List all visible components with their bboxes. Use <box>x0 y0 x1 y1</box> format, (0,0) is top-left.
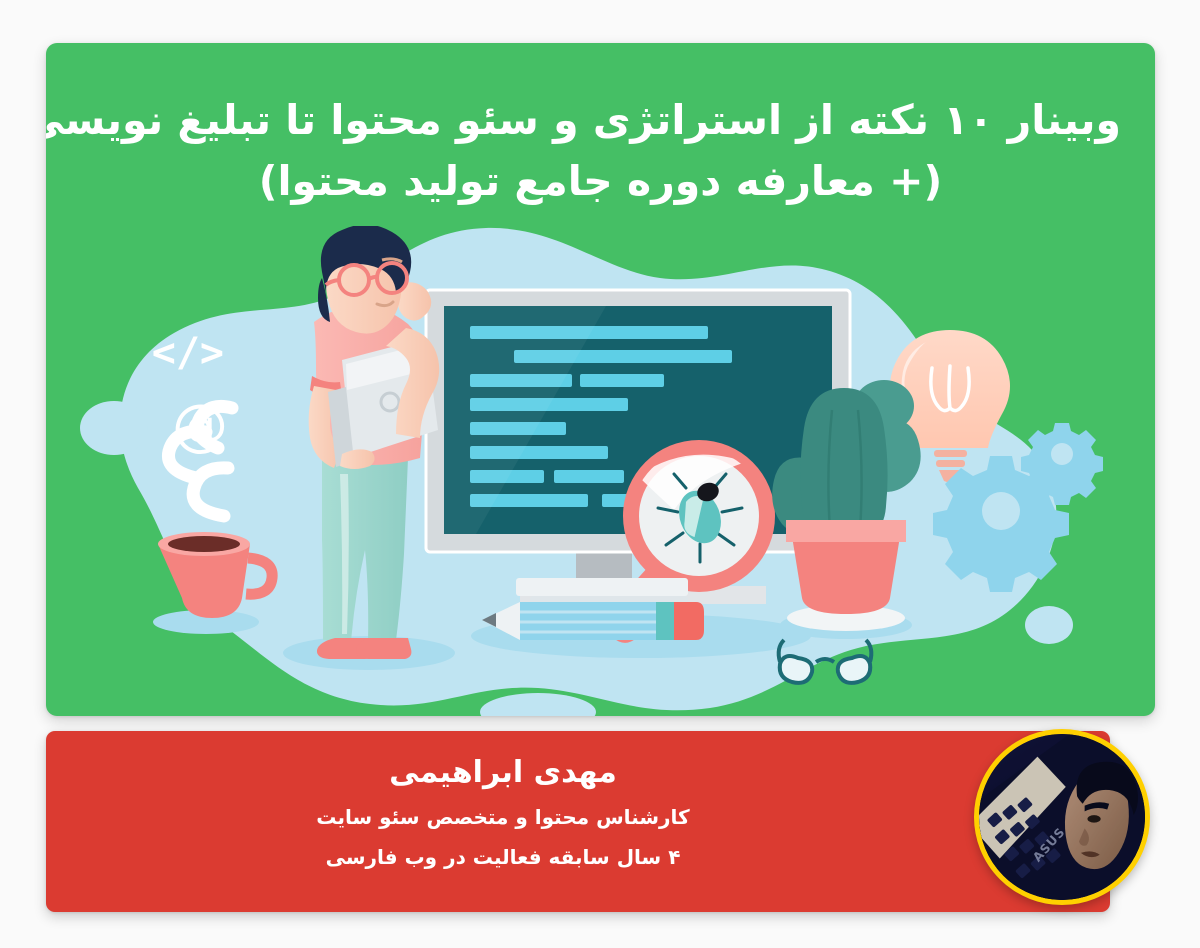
pencil-ferrule <box>656 602 674 640</box>
webinar-title-line-2: (+ معارفه دوره جامع تولید محتوا) <box>80 151 1121 212</box>
banner-stage: وبینار ۱۰ نکته از استراتژی و سئو محتوا ت… <box>0 0 1200 948</box>
blob-puff-left <box>80 401 148 455</box>
speaker-role: کارشناس محتوا و متخصص سئو سایت <box>46 802 960 833</box>
webinar-green-card: وبینار ۱۰ نکته از استراتژی و سئو محتوا ت… <box>46 43 1155 716</box>
coffee-liquid <box>168 536 240 552</box>
speaker-info: مهدی ابراهیمی کارشناس محتوا و متخصص سئو … <box>46 753 960 873</box>
person-shoe-front <box>356 638 411 659</box>
cactus-body <box>800 388 887 542</box>
webinar-title-block: وبینار ۱۰ نکته از استراتژی و سئو محتوا ت… <box>46 90 1155 211</box>
at-symbol: @ <box>172 393 228 458</box>
speaker-name: مهدی ابراهیمی <box>46 753 960 793</box>
webinar-illustration: </> @ <box>46 226 1155 716</box>
speaker-experience: ۴ سال سابقه فعالیت در وب فارسی <box>46 842 960 873</box>
pot-rim <box>786 520 906 542</box>
blob-puff-right <box>1025 606 1073 644</box>
gear-small <box>1021 423 1103 505</box>
pencil-eraser <box>674 602 704 640</box>
pencil-icon <box>482 602 704 640</box>
blob-puff-bottom <box>480 693 596 716</box>
speaker-avatar: ASUS <box>974 729 1150 905</box>
code-tag-symbol: </> <box>152 330 224 376</box>
webinar-title-line-1: وبینار ۱۰ نکته از استراتژی و سئو محتوا ت… <box>80 90 1121 151</box>
speaker-red-bar: مهدی ابراهیمی کارشناس محتوا و متخصص سئو … <box>46 731 1110 912</box>
